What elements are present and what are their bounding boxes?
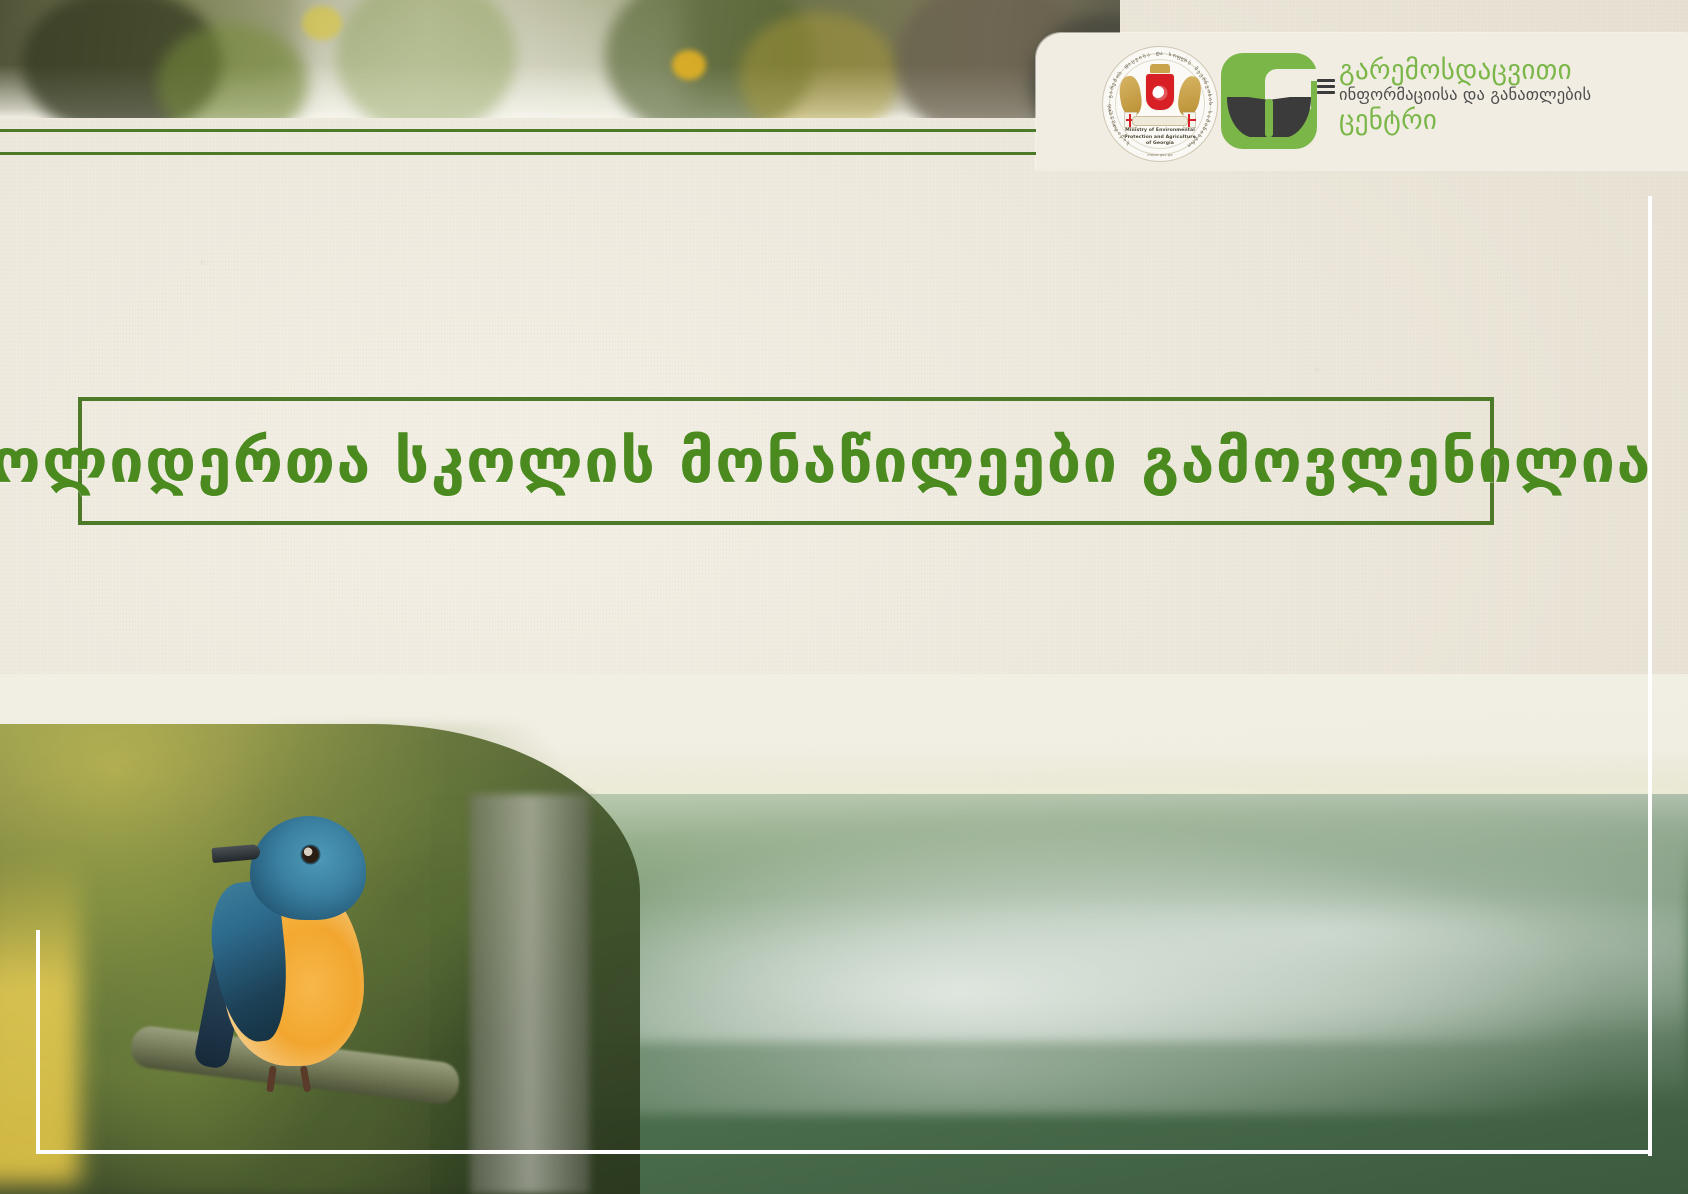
bird-head — [250, 816, 366, 920]
open-book-icon — [1227, 97, 1311, 137]
autumn-yellow-glow — [0, 854, 80, 1184]
poster-canvas: საქართველოს გარემოს დაცვისა და სოფლის მე… — [0, 0, 1688, 1194]
bird-eye — [302, 846, 319, 863]
tree-trunk — [470, 794, 590, 1194]
eiec-logo-line-3: ცენტრი — [1339, 106, 1591, 136]
header-rule-bottom — [0, 152, 1036, 155]
title-box: ეკოლიდერთა სკოლის მონაწილეები გამოვლენილ… — [78, 397, 1494, 525]
flycatcher-bird — [198, 816, 388, 1076]
eiec-logo-mark-icon — [1221, 53, 1317, 149]
eiec-logo-line-2: ინფორმაციისა და განათლების — [1339, 85, 1591, 106]
eiec-logo: გარემოსდაცვითი ინფორმაციისა და განათლები… — [1221, 51, 1661, 155]
logo-card: საქართველოს გარემოს დაცვისა და სოფლის მე… — [1036, 33, 1688, 171]
frame-line-left — [36, 930, 40, 1154]
seal-motto-scroll — [1132, 116, 1188, 126]
seal-shield-icon — [1145, 73, 1175, 111]
ministry-seal: საქართველოს გარემოს დაცვისა და სოფლის მე… — [1102, 46, 1218, 162]
frame-line-bottom — [36, 1150, 1652, 1154]
seal-crown-icon — [1150, 64, 1170, 73]
top-forest-photo-band — [0, 0, 1120, 118]
eiec-bars-icon — [1317, 79, 1335, 97]
bottom-nature-scene — [0, 674, 1688, 1194]
page-title: ეკოლიდერთა სკოლის მონაწილეები გამოვლენილ… — [0, 431, 1652, 492]
frame-line-right — [1648, 196, 1652, 1156]
header-rule-top — [0, 129, 1036, 132]
seal-english-text: Ministry of Environmental Protection and… — [1102, 128, 1218, 148]
eiec-logo-line-1: გარემოსდაცვითი — [1339, 57, 1591, 85]
seal-url-text: mepa.gov.ge — [1102, 153, 1218, 157]
